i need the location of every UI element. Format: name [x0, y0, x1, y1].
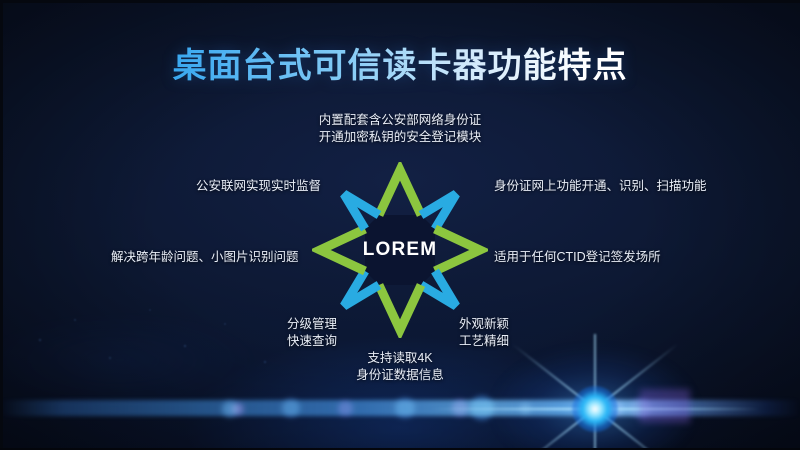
- star-point-e: [435, 229, 480, 271]
- presentation-slide: 桌面台式可信读卡器功能特点 桌面台式可信读卡器功能特点: [0, 0, 800, 450]
- feature-label-bottom-right: 外观新颖 工艺精细: [459, 316, 579, 350]
- lens-flare-core: [572, 386, 618, 432]
- feature-label-right-line1: 适用于任何CTID登记签发场所: [494, 249, 694, 266]
- feature-label-bottom-right-line1: 外观新颖: [459, 316, 579, 333]
- streak-orb: [338, 401, 353, 416]
- feature-label-bottom-line1: 支持读取4K: [330, 350, 470, 367]
- page-title: 桌面台式可信读卡器功能特点: [0, 38, 800, 87]
- feature-label-bottom-line2: 身份证数据信息: [330, 367, 470, 384]
- slide-edge-left: [0, 0, 3, 450]
- streak-orb: [232, 403, 244, 415]
- slide-edge-top: [0, 0, 800, 3]
- feature-label-bottom-left-line2: 快速查询: [287, 333, 397, 350]
- feature-label-top-right: 身份证网上功能开通、识别、扫描功能: [494, 178, 724, 195]
- feature-label-left-line1: 解决跨年龄问题、小图片识别问题: [111, 249, 331, 266]
- feature-label-bottom-left: 分级管理 快速查询: [287, 316, 397, 350]
- feature-label-top-right-line1: 身份证网上功能开通、识别、扫描功能: [494, 178, 724, 195]
- feature-label-bottom-left-line1: 分级管理: [287, 316, 397, 333]
- feature-label-top-left-line1: 公安联网实现实时监督: [196, 178, 386, 195]
- star-inner-fill: [365, 215, 435, 285]
- streak-orb: [282, 399, 300, 417]
- feature-label-top: 内置配套含公安部网络身份证 开通加密私钥的安全登记模块: [250, 112, 550, 146]
- feature-label-left: 解决跨年龄问题、小图片识别问题: [111, 249, 331, 266]
- feature-label-top-left: 公安联网实现实时监督: [196, 178, 386, 195]
- feature-label-bottom: 支持读取4K 身份证数据信息: [330, 350, 470, 384]
- feature-label-top-line2: 开通加密私钥的安全登记模块: [250, 129, 550, 146]
- streak-orb: [395, 398, 415, 418]
- feature-label-right: 适用于任何CTID登记签发场所: [494, 249, 694, 266]
- feature-label-top-line1: 内置配套含公安部网络身份证: [250, 112, 550, 129]
- feature-label-bottom-right-line2: 工艺精细: [459, 333, 579, 350]
- lens-flare-artifact: [640, 389, 690, 423]
